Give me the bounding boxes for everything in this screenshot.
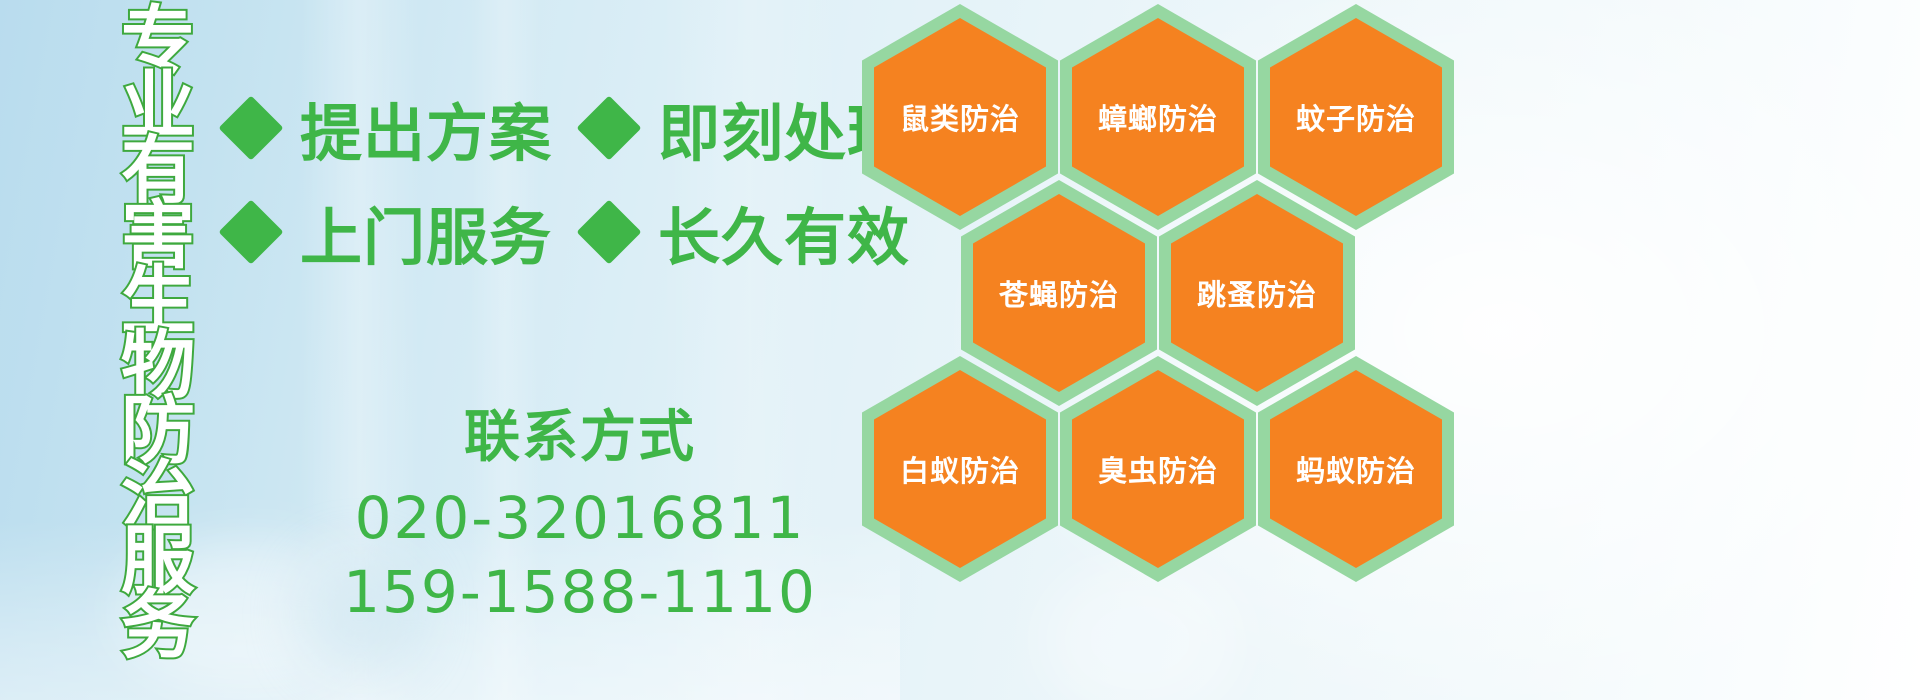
diamond-icon	[218, 95, 283, 160]
service-hexagon-fill: 蚂蚁防治	[1270, 370, 1442, 568]
service-hexagon-label: 跳蚤防治	[1197, 272, 1317, 314]
diamond-icon	[218, 199, 283, 264]
contact-block: 联系方式 020-32016811159-1588-1110	[300, 392, 860, 629]
pest-control-banner: 专业有害生物防治服务 提出方案即刻处理上门服务长久有效 联系方式 020-320…	[0, 0, 1920, 700]
service-hexagon[interactable]: 白蚁防治	[862, 356, 1058, 582]
service-hexagon-label: 蚊子防治	[1296, 96, 1416, 138]
service-hexagon[interactable]: 蚊子防治	[1258, 4, 1454, 230]
contact-title: 联系方式	[300, 392, 860, 473]
service-hexagon-fill: 鼠类防治	[874, 18, 1046, 216]
feature-row: 提出方案即刻处理	[228, 76, 868, 180]
phone-number[interactable]: 159-1588-1110	[300, 555, 860, 629]
service-hexagon-label: 蟑螂防治	[1098, 96, 1218, 138]
service-hexagon-fill: 蟑螂防治	[1072, 18, 1244, 216]
service-hexagon-label: 臭虫防治	[1098, 448, 1218, 490]
service-hexagon-label: 苍蝇防治	[999, 272, 1119, 314]
diamond-icon	[576, 199, 641, 264]
feature-row: 上门服务长久有效	[228, 180, 868, 284]
vertical-slogan-char: 务	[121, 591, 195, 662]
service-hexagon[interactable]: 跳蚤防治	[1159, 180, 1355, 406]
service-hexagon[interactable]: 臭虫防治	[1060, 356, 1256, 582]
service-hexagon-fill: 苍蝇防治	[973, 194, 1145, 392]
service-hexagon-label: 蚂蚁防治	[1296, 448, 1416, 490]
service-hexagon-fill: 白蚁防治	[874, 370, 1046, 568]
diamond-icon	[576, 95, 641, 160]
service-hexagon-label: 白蚁防治	[900, 448, 1020, 490]
phone-number[interactable]: 020-32016811	[300, 481, 860, 555]
service-hexagon-label: 鼠类防治	[900, 96, 1020, 138]
service-hexagon[interactable]: 蟑螂防治	[1060, 4, 1256, 230]
service-hexagon[interactable]: 苍蝇防治	[961, 180, 1157, 406]
service-hexagon[interactable]: 蚂蚁防治	[1258, 356, 1454, 582]
service-hexagon-fill: 蚊子防治	[1270, 18, 1442, 216]
service-hexagon[interactable]: 鼠类防治	[862, 4, 1058, 230]
service-hexagon-fill: 跳蚤防治	[1171, 194, 1343, 392]
feature-label: 上门服务	[300, 187, 552, 277]
phone-list: 020-32016811159-1588-1110	[300, 481, 860, 629]
service-honeycomb: 鼠类防治蟑螂防治蚊子防治苍蝇防治跳蚤防治白蚁防治臭虫防治蚂蚁防治	[862, 0, 1472, 700]
feature-label: 提出方案	[300, 83, 552, 173]
feature-list: 提出方案即刻处理上门服务长久有效	[228, 76, 868, 284]
service-hexagon-fill: 臭虫防治	[1072, 370, 1244, 568]
vertical-slogan: 专业有害生物防治服务	[96, 6, 220, 696]
